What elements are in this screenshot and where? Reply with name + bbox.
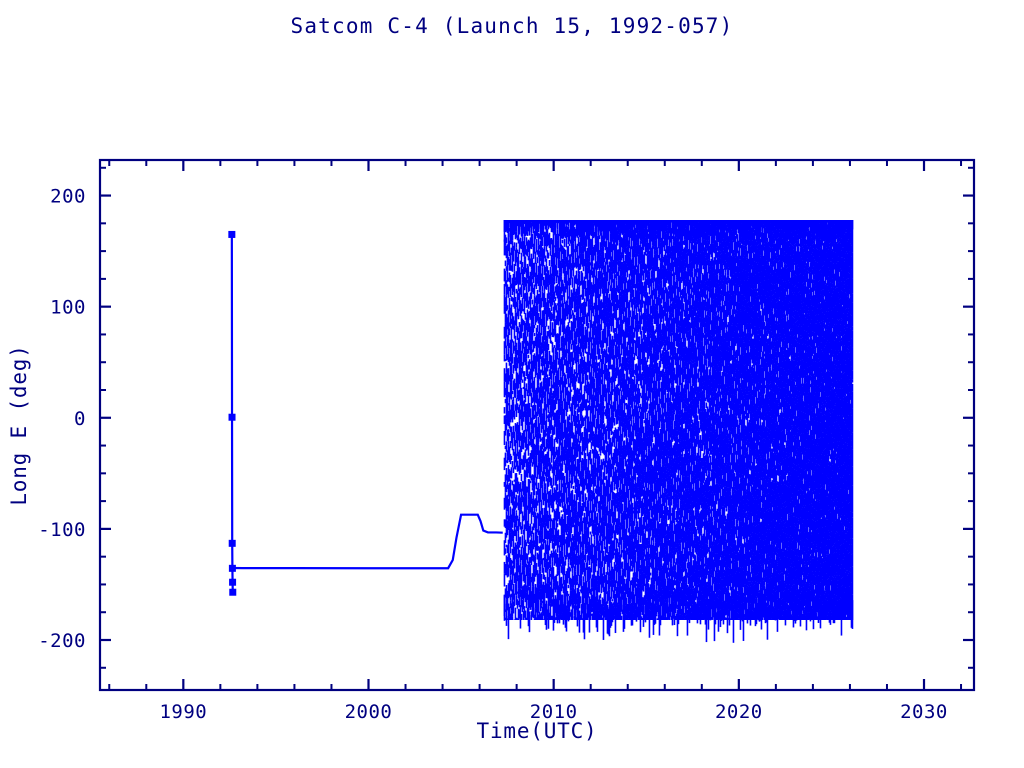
drift-stroke: [638, 536, 640, 543]
drift-stroke: [652, 438, 654, 442]
drift-stroke: [577, 575, 579, 582]
drift-stroke: [665, 387, 667, 409]
drift-stroke: [569, 415, 571, 421]
drift-stroke: [511, 456, 513, 460]
drift-stroke: [548, 326, 550, 330]
drift-stroke: [516, 510, 518, 512]
drift-stroke: [578, 359, 580, 365]
drift-stroke: [600, 594, 602, 599]
drift-stroke: [579, 464, 581, 472]
drift-stroke: [568, 585, 570, 588]
drift-stroke: [537, 536, 539, 539]
drift-stroke: [549, 260, 551, 266]
drift-stroke: [580, 550, 582, 553]
drift-stroke: [548, 344, 550, 350]
drift-stroke: [635, 474, 637, 481]
drift-stroke: [548, 364, 550, 368]
drift-stroke: [514, 379, 516, 384]
drift-stroke: [508, 441, 510, 445]
drift-stroke: [542, 236, 544, 246]
drift-stroke: [517, 516, 519, 519]
drift-stroke: [510, 275, 512, 284]
drift-stroke: [595, 480, 597, 486]
drift-stroke: [628, 489, 630, 501]
drift-stroke: [541, 603, 543, 606]
drift-stroke: [521, 573, 523, 587]
drift-stroke: [520, 273, 522, 285]
drift-stroke: [588, 323, 590, 326]
drift-stroke: [521, 253, 523, 256]
drift-stroke: [604, 527, 606, 546]
drift-stroke: [554, 345, 556, 348]
drift-stroke: [542, 286, 544, 291]
drift-stroke: [580, 596, 582, 603]
drift-stroke: [575, 411, 577, 414]
drift-stroke: [570, 385, 572, 401]
drift-stroke: [512, 391, 514, 394]
drift-stroke: [533, 281, 535, 284]
drift-stroke: [612, 599, 614, 601]
drift-stroke: [520, 563, 522, 573]
drift-stroke: [599, 456, 601, 465]
drift-stroke: [583, 267, 585, 272]
drift-stroke: [585, 560, 587, 562]
drift-stroke: [518, 619, 520, 620]
drift-stroke: [516, 347, 518, 349]
drift-stroke: [573, 486, 575, 489]
drift-stroke: [571, 390, 573, 392]
drift-stroke: [554, 469, 556, 476]
drift-stroke: [661, 319, 663, 322]
drift-stroke: [656, 614, 658, 616]
drift-stroke: [536, 509, 538, 512]
drift-stroke: [612, 536, 614, 538]
drift-stroke: [530, 481, 532, 483]
drift-stroke: [578, 548, 580, 557]
drift-stroke: [545, 483, 547, 489]
drift-stroke: [626, 310, 628, 318]
drift-stroke: [538, 599, 540, 613]
drift-stroke: [593, 486, 595, 490]
drift-stroke: [657, 250, 659, 270]
drift-stroke: [525, 377, 527, 381]
drift-stroke: [572, 421, 574, 430]
drift-stroke: [629, 316, 631, 325]
drift-stroke: [621, 616, 623, 620]
drift-stroke: [531, 346, 533, 360]
drift-stroke: [626, 397, 628, 400]
drift-stroke: [594, 379, 596, 383]
drift-stroke: [603, 420, 605, 423]
drift-stroke: [522, 535, 524, 548]
drift-stroke: [557, 270, 559, 274]
drift-stroke: [590, 450, 592, 459]
drift-stroke: [658, 355, 660, 360]
drift-stroke: [521, 507, 523, 509]
drift-stroke: [599, 235, 601, 239]
drift-stroke: [564, 409, 566, 419]
drift-stroke: [659, 519, 661, 522]
drift-stroke: [531, 292, 533, 299]
drift-stroke: [561, 480, 563, 482]
drift-stroke: [584, 316, 586, 324]
drift-stroke: [555, 297, 557, 301]
drift-stroke: [535, 551, 537, 557]
drift-stroke: [612, 508, 614, 511]
drift-stroke: [516, 343, 518, 348]
drift-stroke: [568, 594, 570, 596]
drift-stroke: [584, 485, 586, 491]
drift-stroke: [529, 359, 531, 369]
drift-stroke: [540, 566, 542, 571]
drift-stroke: [513, 426, 515, 433]
drift-stroke: [549, 504, 551, 516]
drift-stroke: [504, 407, 506, 413]
drift-stroke: [541, 403, 543, 405]
drift-stroke: [633, 479, 635, 482]
drift-stroke: [619, 551, 621, 554]
drift-stroke: [586, 497, 588, 500]
drift-stroke: [512, 261, 514, 272]
drift-stroke: [511, 467, 513, 478]
drift-stroke: [563, 303, 565, 308]
drift-stroke: [512, 617, 514, 620]
drift-stroke: [524, 299, 526, 314]
drift-stroke: [554, 282, 556, 284]
drift-stroke: [516, 585, 518, 596]
drift-stroke: [583, 376, 585, 383]
drift-stroke: [505, 453, 507, 467]
drift-stroke: [622, 504, 624, 512]
drift-stroke: [505, 261, 507, 267]
drift-stroke: [562, 240, 564, 244]
drift-stroke: [561, 510, 563, 512]
drift-stroke: [613, 412, 615, 416]
drift-stroke: [630, 310, 632, 317]
drift-stroke: [520, 522, 522, 525]
drift-stroke: [520, 537, 522, 546]
drift-stroke: [614, 418, 616, 426]
drift-stroke: [505, 548, 507, 554]
drift-stroke: [619, 546, 621, 552]
drift-stroke: [547, 337, 549, 339]
drift-stroke: [604, 406, 606, 409]
drift-stroke: [583, 576, 585, 581]
drift-stroke: [641, 331, 643, 339]
drift-stroke: [566, 378, 568, 384]
drift-stroke: [649, 558, 651, 580]
drift-stroke: [554, 439, 556, 453]
drift-stroke: [532, 234, 534, 237]
drift-stroke: [522, 262, 524, 267]
drift-stroke: [509, 403, 511, 410]
drift-stroke: [665, 481, 667, 487]
drift-stroke: [558, 386, 560, 398]
drift-stroke: [588, 325, 590, 328]
drift-stroke: [528, 447, 530, 456]
drift-stroke: [514, 242, 516, 250]
drift-stroke: [590, 532, 592, 535]
drift-stroke: [524, 606, 526, 609]
drift-stroke: [522, 379, 524, 382]
drift-stroke: [541, 302, 543, 308]
drift-stroke: [591, 534, 593, 537]
drift-stroke: [509, 328, 511, 335]
drift-stroke: [622, 562, 624, 568]
drift-stroke: [514, 411, 516, 420]
drift-stroke: [521, 315, 523, 318]
drift-stroke: [569, 477, 571, 494]
drift-stroke: [596, 564, 598, 566]
drift-stroke: [528, 355, 530, 359]
drift-stroke: [508, 348, 510, 351]
drift-stroke: [567, 299, 569, 301]
drift-stroke: [512, 374, 514, 379]
drift-stroke: [557, 484, 559, 490]
drift-stroke: [562, 514, 564, 517]
drift-stroke: [565, 561, 567, 566]
drift-stroke: [606, 392, 608, 404]
drift-stroke: [506, 237, 508, 243]
drift-stroke: [557, 523, 559, 527]
drift-stroke: [533, 321, 535, 325]
drift-stroke: [620, 569, 622, 576]
drift-stroke: [540, 434, 542, 442]
drift-stroke: [532, 300, 534, 305]
drift-stroke: [598, 394, 600, 403]
drift-stroke: [521, 474, 523, 481]
drift-stroke: [548, 253, 550, 259]
drift-stroke: [553, 233, 555, 250]
drift-stroke: [512, 461, 514, 467]
drift-stroke: [556, 281, 558, 283]
drift-stroke: [634, 522, 636, 526]
drift-stroke: [511, 394, 513, 400]
drift-stroke: [589, 341, 591, 352]
drift-stroke: [537, 257, 539, 263]
drift-stroke: [521, 614, 523, 620]
drift-stroke: [603, 247, 605, 252]
drift-stroke: [552, 342, 554, 348]
drift-stroke: [540, 290, 542, 297]
plot-page: Satcom C-4 (Launch 15, 1992-057) 1990200…: [0, 0, 1024, 768]
drift-stroke: [640, 244, 642, 246]
drift-stroke: [559, 343, 561, 348]
drift-stroke: [555, 549, 557, 552]
drift-stroke: [573, 241, 575, 244]
drift-stroke: [506, 441, 508, 451]
drift-stroke: [512, 241, 514, 246]
drift-stroke: [512, 353, 514, 363]
drift-stroke: [567, 316, 569, 319]
longitude-vs-time-chart: 19902000201020202030-200-1000100200 Time…: [0, 0, 1024, 768]
drift-stroke: [550, 250, 552, 256]
drift-stroke: [564, 239, 566, 247]
drift-stroke: [536, 416, 538, 422]
drift-stroke: [535, 252, 537, 264]
drift-stroke: [534, 333, 536, 336]
drift-stroke: [507, 305, 509, 310]
drift-stroke: [532, 375, 534, 381]
drift-region-fill: [504, 220, 854, 643]
drift-stroke: [509, 298, 511, 302]
drift-stroke: [585, 327, 587, 330]
drift-stroke: [513, 397, 515, 401]
drift-stroke: [504, 574, 506, 587]
drift-stroke: [600, 453, 602, 455]
drift-stroke: [573, 260, 575, 277]
drift-stroke: [546, 259, 548, 264]
drift-stroke: [526, 283, 528, 287]
drift-stroke: [614, 487, 616, 491]
drift-stroke: [540, 486, 542, 502]
drift-stroke: [607, 278, 609, 281]
drift-stroke: [587, 619, 589, 620]
drift-stroke: [504, 595, 506, 621]
drift-stroke: [567, 301, 569, 303]
drift-stroke: [526, 383, 528, 387]
drift-stroke: [632, 503, 634, 517]
drift-stroke: [529, 612, 531, 633]
drift-stroke: [570, 568, 572, 571]
drift-stroke: [572, 277, 574, 287]
drift-stroke: [531, 534, 533, 537]
drift-stroke: [579, 285, 581, 295]
drift-stroke: [516, 243, 518, 248]
drift-stroke: [603, 401, 605, 420]
drift-stroke: [534, 578, 536, 582]
drift-stroke: [617, 395, 619, 406]
drift-stroke: [564, 493, 566, 505]
drift-stroke: [509, 433, 511, 436]
drift-stroke: [519, 248, 521, 254]
drift-stroke: [521, 284, 523, 297]
drift-stroke: [575, 569, 577, 572]
drift-stroke: [527, 232, 529, 236]
drift-stroke: [650, 573, 652, 576]
drift-stroke: [544, 246, 546, 253]
drift-stroke: [526, 358, 528, 361]
drift-stroke: [579, 611, 581, 633]
drift-stroke: [526, 508, 528, 521]
drift-stroke: [514, 594, 516, 607]
drift-stroke: [569, 244, 571, 246]
drift-stroke: [534, 325, 536, 328]
drift-stroke: [578, 354, 580, 359]
drift-stroke: [656, 411, 658, 421]
drift-stroke: [562, 467, 564, 471]
drift-stroke: [579, 271, 581, 274]
drift-stroke: [592, 262, 594, 267]
drift-stroke: [510, 597, 512, 601]
drift-stroke: [631, 419, 633, 426]
drift-stroke: [537, 325, 539, 332]
